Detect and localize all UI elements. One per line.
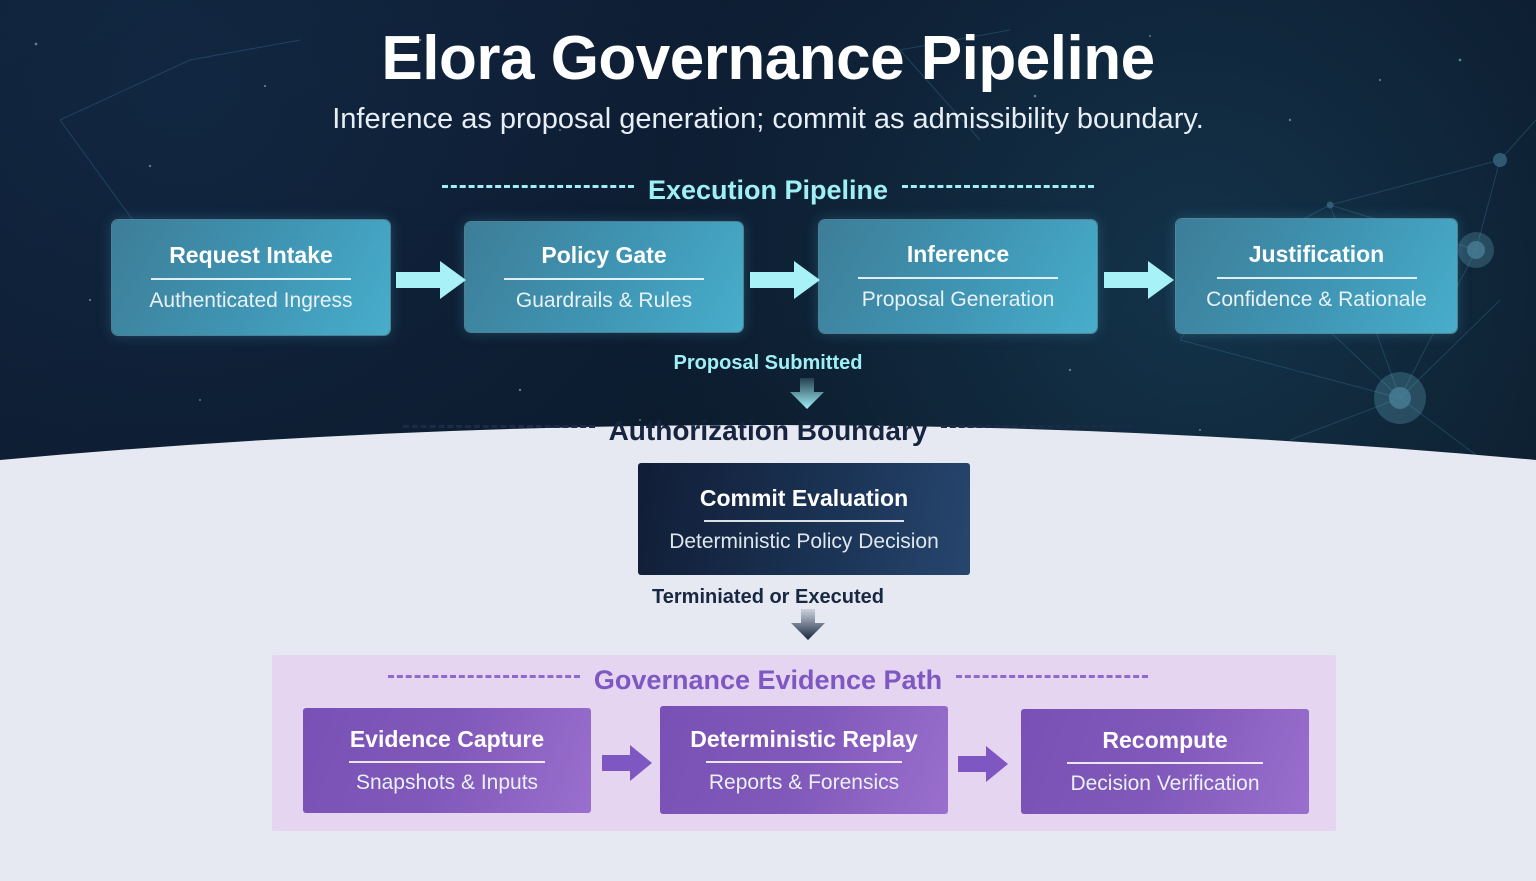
node-subtitle: Reports & Forensics — [709, 771, 899, 795]
node-evidence-capture[interactable]: Evidence Capture Snapshots & Inputs — [303, 708, 591, 813]
node-title: Inference — [907, 241, 1009, 268]
node-title: Justification — [1249, 241, 1384, 268]
node-commit-evaluation[interactable]: Commit Evaluation Deterministic Policy D… — [638, 463, 970, 575]
node-divider — [706, 761, 902, 763]
page-subtitle: Inference as proposal generation; commit… — [0, 103, 1536, 136]
node-subtitle: Proposal Generation — [862, 288, 1055, 312]
node-policy-gate[interactable]: Policy Gate Guardrails & Rules — [465, 222, 743, 332]
page-header: Elora Governance Pipeline Inference as p… — [0, 26, 1536, 136]
connector-label-terminated-or-executed: Terminiated or Executed — [0, 586, 1536, 609]
page-title: Elora Governance Pipeline — [0, 26, 1536, 93]
dash-line-right — [941, 425, 1133, 428]
connector-label-proposal-submitted: Proposal Submitted — [0, 352, 1536, 375]
arrow-down-to-commit-icon — [787, 378, 827, 410]
node-title: Deterministic Replay — [690, 726, 918, 753]
arrow-capture-to-replay-icon — [602, 743, 654, 783]
arrow-gate-to-inference-icon — [750, 258, 822, 302]
node-deterministic-replay[interactable]: Deterministic Replay Reports & Forensics — [660, 706, 948, 814]
arrow-down-to-evidence-icon — [788, 609, 828, 641]
node-divider — [349, 761, 545, 763]
section-header-authorization-boundary: Authorization Boundary — [0, 413, 1536, 447]
node-divider — [504, 278, 704, 280]
node-justification[interactable]: Justification Confidence & Rationale — [1176, 219, 1457, 333]
dash-line-right — [902, 185, 1094, 188]
node-subtitle: Decision Verification — [1070, 772, 1259, 796]
section-label-authorization: Authorization Boundary — [609, 415, 928, 447]
node-divider — [151, 278, 351, 280]
dash-line-left — [442, 185, 634, 188]
node-divider — [1217, 277, 1417, 279]
arrow-intake-to-gate-icon — [396, 258, 468, 302]
node-title: Request Intake — [169, 242, 333, 269]
node-divider — [704, 520, 904, 522]
node-title: Evidence Capture — [350, 726, 544, 753]
node-subtitle: Confidence & Rationale — [1206, 288, 1427, 312]
node-subtitle: Guardrails & Rules — [516, 289, 692, 313]
section-label-governance: Governance Evidence Path — [594, 665, 942, 696]
node-subtitle: Deterministic Policy Decision — [669, 530, 939, 554]
arrow-replay-to-recompute-icon — [958, 744, 1010, 784]
section-label-execution: Execution Pipeline — [648, 175, 888, 206]
node-recompute[interactable]: Recompute Decision Verification — [1021, 709, 1309, 814]
dash-line-left — [403, 425, 595, 428]
dash-line-left — [388, 675, 580, 678]
dash-line-right — [956, 675, 1148, 678]
node-subtitle: Authenticated Ingress — [149, 289, 352, 313]
node-subtitle: Snapshots & Inputs — [356, 771, 538, 795]
node-title: Recompute — [1102, 727, 1227, 754]
section-header-execution-pipeline: Execution Pipeline — [0, 174, 1536, 206]
node-request-intake[interactable]: Request Intake Authenticated Ingress — [112, 220, 390, 335]
section-header-governance-evidence-path: Governance Evidence Path — [0, 664, 1536, 696]
node-inference[interactable]: Inference Proposal Generation — [819, 220, 1097, 333]
arrow-inference-to-justification-icon — [1104, 258, 1176, 302]
node-divider — [858, 277, 1058, 279]
node-title: Policy Gate — [541, 242, 666, 269]
node-title: Commit Evaluation — [700, 485, 908, 512]
node-divider — [1067, 762, 1263, 764]
